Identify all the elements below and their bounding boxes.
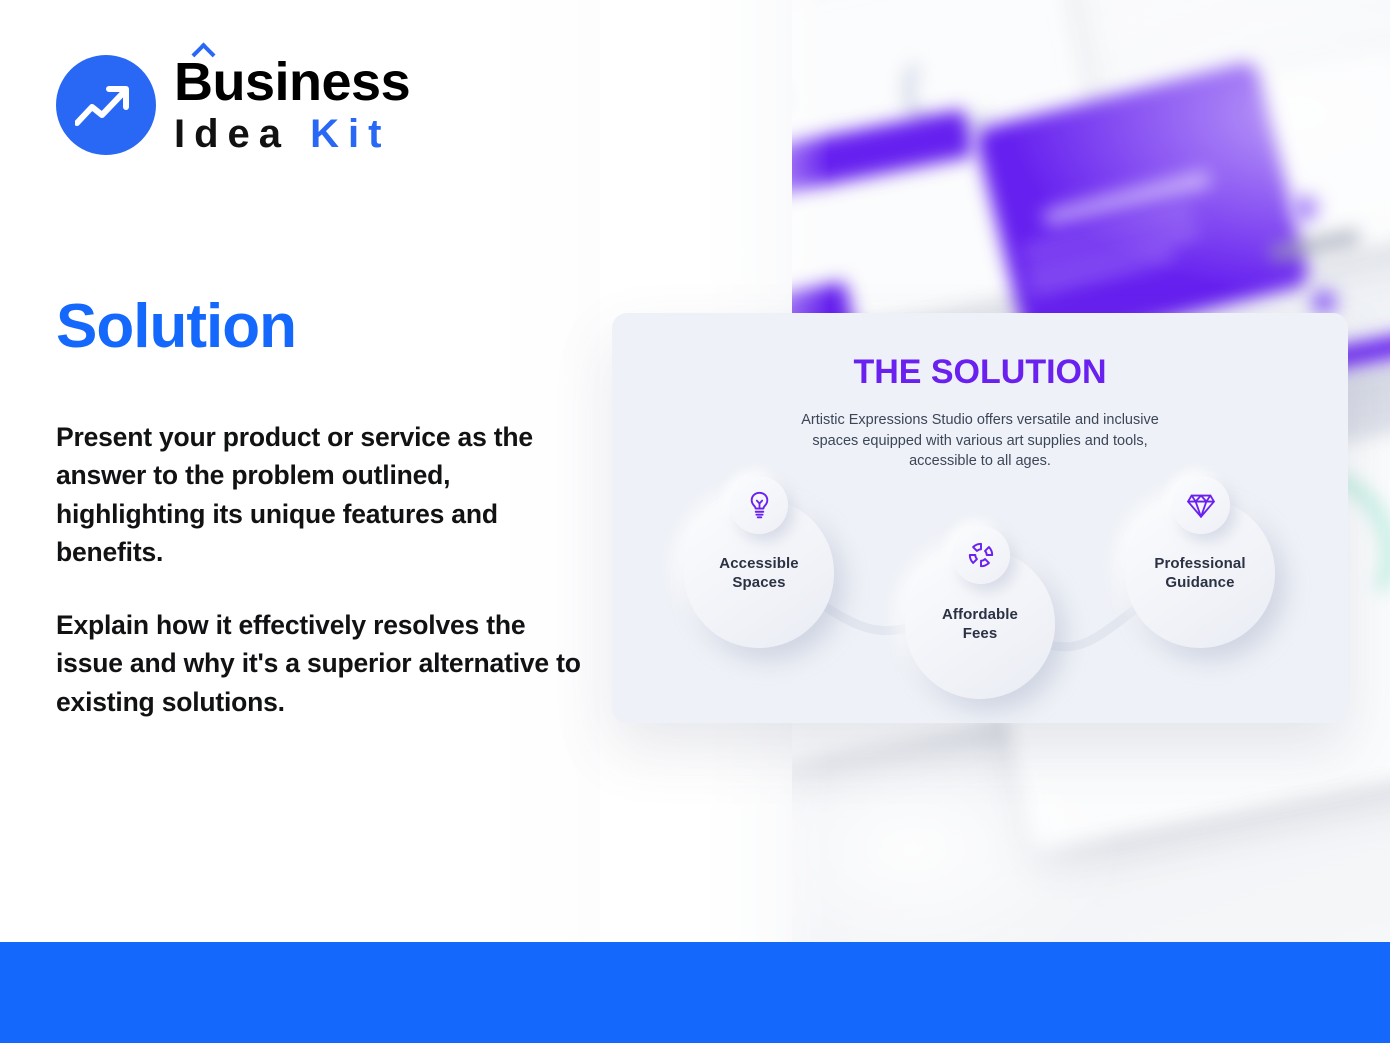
slide-canvas: Business Idea Kit Solution Present your …	[0, 0, 1390, 1043]
page-title: Solution	[56, 296, 296, 358]
solution-card: THE SOLUTION Artistic Expressions Studio…	[612, 313, 1348, 723]
node-label-line2: Spaces	[732, 574, 785, 591]
description-text: Present your product or service as the a…	[56, 418, 586, 721]
lifebuoy-icon	[952, 526, 1010, 584]
footer-bar	[0, 942, 1390, 1043]
brand-idea-text: Idea	[174, 112, 290, 156]
paragraph-1: Present your product or service as the a…	[56, 418, 586, 572]
brand-logo[interactable]: Business Idea Kit	[56, 55, 410, 155]
solution-card-title: THE SOLUTION	[612, 353, 1348, 392]
node-label-line1: Accessible	[719, 555, 798, 572]
node-label-line1: Affordable	[942, 606, 1018, 623]
growth-arrow-icon	[56, 55, 156, 155]
brand-name-line1: Business	[174, 55, 410, 110]
lightbulb-icon	[730, 476, 788, 534]
node-label-line2: Guidance	[1165, 574, 1234, 591]
mock-dot	[1292, 195, 1318, 221]
solution-card-subtitle: Artistic Expressions Studio offers versa…	[800, 410, 1160, 472]
brand-wordmark: Business Idea Kit	[174, 55, 410, 154]
diamond-icon	[1172, 476, 1230, 534]
node-label: Professional Guidance	[1140, 554, 1259, 592]
brand-name-line2: Idea Kit	[174, 113, 410, 155]
node-label-line1: Professional	[1154, 555, 1245, 572]
node-label: Affordable Fees	[928, 605, 1032, 643]
node-label-line2: Fees	[963, 625, 998, 642]
paragraph-2: Explain how it effectively resolves the …	[56, 606, 586, 721]
mock-dot	[1312, 290, 1336, 314]
brand-kit-text: Kit	[310, 112, 390, 156]
node-label: Accessible Spaces	[705, 554, 812, 592]
